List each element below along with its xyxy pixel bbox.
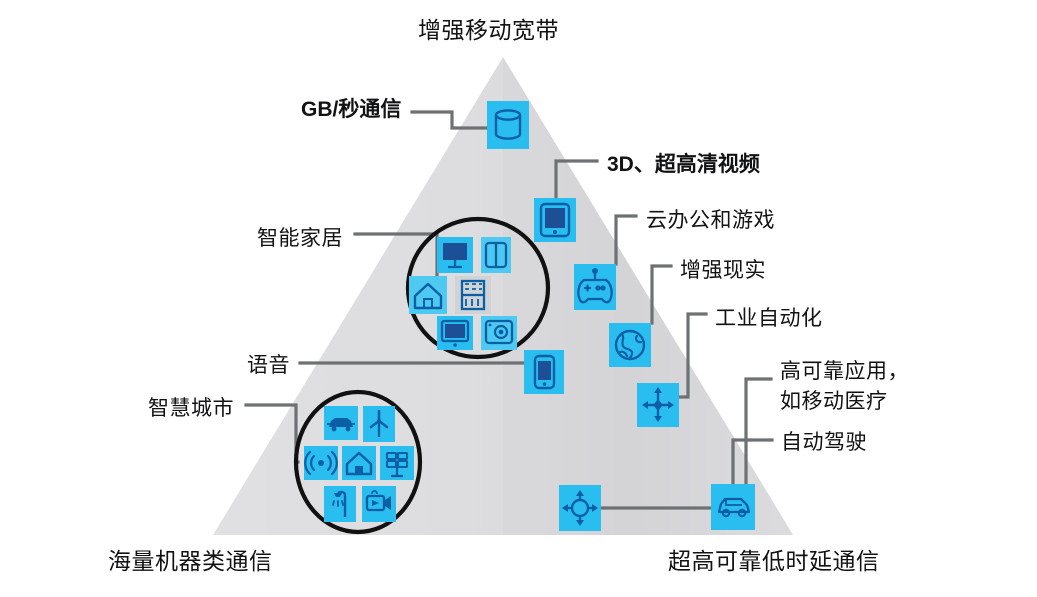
network-node-icon [559,485,601,531]
video-camera-icon [362,486,396,522]
gamepad-icon [574,264,616,310]
four-arrows-icon [637,383,679,427]
washing-machine-icon [481,237,511,273]
tablet-display-icon [534,198,576,242]
wifi-signal-icon [304,446,338,480]
wind-turbine-icon [363,406,395,442]
callout-label-industrial-automation: 工业自动化 [715,305,823,332]
5g-scenario-triangle-graphic [0,0,1037,597]
refrigerator-icon [455,276,491,314]
callout-label-voice: 语音 [247,352,290,379]
callout-label-smart-city: 智慧城市 [148,395,234,422]
solar-panel-icon [380,446,414,480]
home-house-icon [342,446,376,480]
callout-label-high-reliability-mobile-health: 高可靠应用， 如移动医疗 [780,357,909,417]
callout-label-augmented-reality: 增强现实 [680,257,766,284]
corner-label-bottom-right: 超高可靠低时延通信 [668,547,880,576]
corner-label-top: 增强移动宽带 [418,16,559,45]
smartphone-icon [524,350,564,394]
street-light-icon [324,486,356,522]
diagram-canvas: 增强移动宽带 海量机器类通信 超高可靠低时延通信 GB/秒通信 3D、超高清视频… [0,0,1037,597]
car-top-icon [324,406,358,440]
database-cylinder-icon [487,101,529,149]
callout-label-gb-per-second: GB/秒通信 [301,97,401,124]
smart-camera-icon [481,316,517,350]
callout-line-2: 如移动医疗 [780,387,909,417]
globe-icon [609,323,651,367]
callout-label-3d-uhd-video: 3D、超高清视频 [607,152,760,179]
callout-label-cloud-office-gaming: 云办公和游戏 [646,207,775,234]
callout-line-1: 高可靠应用， [780,357,909,387]
desktop-monitor-icon [437,237,473,273]
television-icon [437,316,473,350]
callout-label-autonomous-driving: 自动驾驶 [781,429,867,456]
callout-label-smart-home: 智能家居 [257,225,343,252]
home-house-icon [409,276,447,314]
car-icon [711,484,755,530]
corner-label-bottom-left: 海量机器类通信 [108,547,273,576]
